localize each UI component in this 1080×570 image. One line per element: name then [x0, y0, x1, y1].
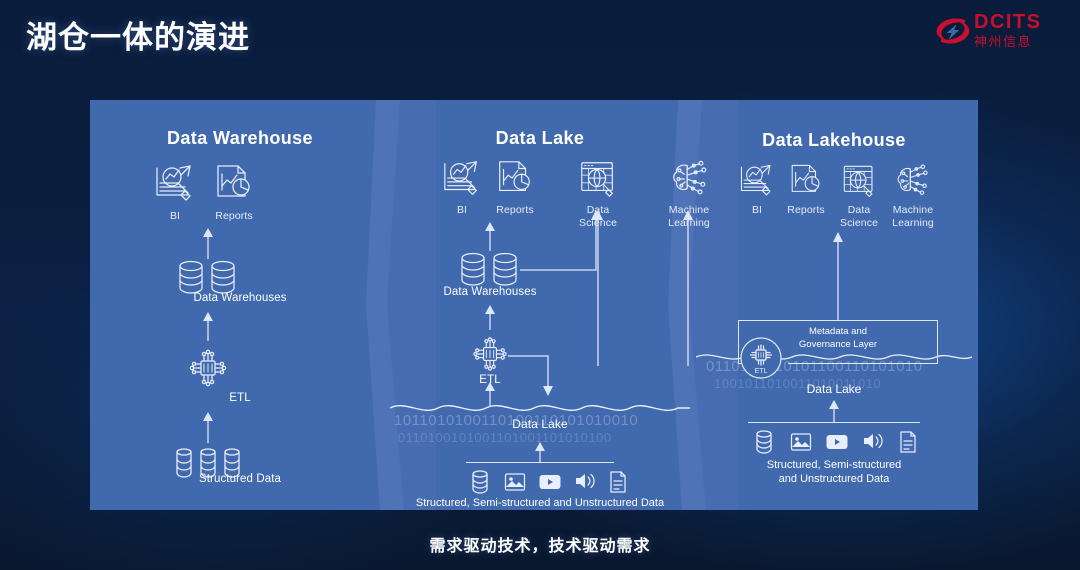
layer-label-structured-data: Structured Data: [90, 473, 390, 485]
flow-arrow-up: [480, 222, 500, 252]
column-title-data-warehouse: Data Warehouse: [90, 128, 390, 149]
column-data-lakehouse: Data Lakehouse BI: [690, 100, 978, 510]
sources-label-line1: Structured, Semi-structured: [690, 458, 978, 472]
sources-label-line2: and Unstructured Data: [690, 472, 978, 486]
icon-label-line2: Science: [830, 217, 888, 230]
icon-label-machine-learning: Machine Learning: [882, 204, 944, 229]
flow-arrow-sources-to-lake: [824, 400, 844, 424]
flow-arrow-up: [198, 228, 218, 260]
sources-label: Structured, Semi-structured and Unstruct…: [690, 458, 978, 486]
layer-label-data-lake: Data Lake: [390, 417, 690, 431]
page-title: 湖仓一体的演进: [26, 12, 250, 57]
image-icon: [504, 472, 526, 492]
slide-header: 湖仓一体的演进 DCITS 神州信息: [0, 0, 1080, 72]
database-icon: [470, 470, 490, 494]
flow-arrow-up: [198, 312, 218, 342]
bi-chart-magnifier-icon: [737, 162, 777, 200]
svg-text:ETL: ETL: [755, 368, 768, 375]
slide-caption: 需求驱动技术，技术驱动需求: [0, 532, 1080, 556]
flow-arrow-sources-to-lake: [530, 442, 550, 464]
flow-arrow-up: [480, 305, 500, 331]
brand-logo: DCITS 神州信息: [934, 8, 1062, 58]
audio-icon: [862, 431, 886, 451]
video-icon: [538, 473, 562, 491]
column-data-warehouse: Data Warehouse BI: [90, 100, 390, 510]
video-icon: [825, 433, 849, 451]
data-science-globe-icon: [576, 158, 620, 200]
icon-label-line1: Machine: [882, 204, 944, 217]
data-science-globe-icon: [839, 162, 879, 200]
flow-arrow-up: [198, 412, 218, 444]
icon-label-bi: BI: [737, 204, 777, 217]
icon-label-data-science: Data Science: [830, 204, 888, 229]
sources-bus-line: [748, 422, 920, 423]
logo-text-en: DCITS: [974, 12, 1042, 32]
etl-chip-icon: ETL: [738, 335, 784, 381]
icon-label-bi: BI: [152, 210, 198, 223]
icon-label-line2: Learning: [882, 217, 944, 230]
etl-chip-icon: [184, 344, 232, 392]
database-stack-icon: [458, 250, 522, 290]
sources-label: Structured, Semi-structured and Unstruct…: [382, 496, 698, 510]
dcits-swoosh-icon: [934, 14, 972, 48]
etl-chip-icon: [468, 332, 512, 376]
bi-chart-magnifier-icon: [152, 162, 198, 206]
logo-text-cn: 神州信息: [974, 34, 1042, 50]
report-document-pie-icon: [787, 162, 825, 200]
icon-label-reports: Reports: [208, 210, 260, 223]
lakehouse-evolution-panel: Data Warehouse BI: [90, 100, 978, 510]
layer-label-data-warehouses: Data Warehouses: [420, 286, 560, 298]
connector-etl-to-lake: [508, 348, 560, 398]
image-icon: [790, 432, 812, 452]
column-data-lake: Data Lake BI: [390, 100, 690, 510]
icon-label-reports: Reports: [780, 204, 832, 217]
flow-arrow-governance-to-consumers: [828, 230, 848, 322]
report-document-pie-icon: [212, 162, 256, 206]
sources-bus-line: [466, 462, 614, 463]
document-icon: [608, 470, 628, 494]
icon-label-bi: BI: [440, 204, 484, 217]
audio-icon: [574, 471, 598, 491]
machine-learning-brain-icon: [893, 162, 931, 200]
logo-text: DCITS 神州信息: [974, 12, 1042, 50]
bi-chart-magnifier-icon: [440, 158, 484, 200]
column-title-data-lakehouse: Data Lakehouse: [690, 130, 978, 151]
binary-row-2: 0110100101001101001101010100: [398, 430, 612, 445]
layer-label-data-warehouses: Data Warehouses: [90, 292, 390, 304]
report-document-pie-icon: [494, 158, 536, 200]
governance-box-bottom-right: [788, 363, 938, 364]
layer-label-etl: ETL: [90, 392, 390, 404]
column-title-data-lake: Data Lake: [390, 128, 690, 149]
document-icon: [898, 430, 918, 454]
icon-label-line1: Data: [830, 204, 888, 217]
flow-arrow-lake-to-datascience: [588, 208, 608, 368]
lakehouse-lake-label: Data Lake: [690, 382, 978, 396]
database-icon: [754, 430, 774, 454]
